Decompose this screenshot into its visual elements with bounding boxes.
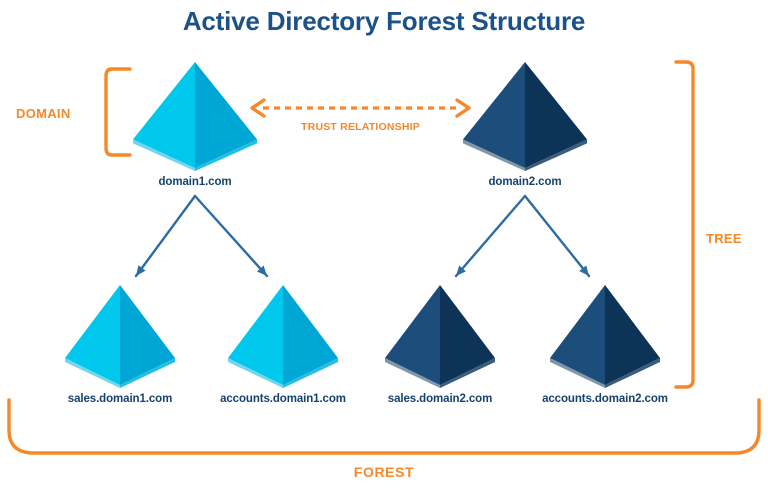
forest-group-label: FOREST [0,464,768,480]
pyramid-left-face [463,62,525,168]
pyramid-right-face [525,62,587,168]
pyramid-right-face [120,285,175,385]
pyramid-left-face [228,285,283,385]
diagram-vector-layer [0,0,768,495]
tree-group-label: TREE [706,231,742,246]
domain-group-label: DOMAIN [16,106,71,121]
connector-arrow [136,196,195,276]
arrow-head-right-icon [457,100,469,116]
pyramid-icon [228,285,338,388]
pyramid-left-face [385,285,440,385]
connector-line [195,196,267,276]
double-arrow-icon [252,100,469,116]
connector-arrow [456,196,525,276]
pyramid-right-face [283,285,338,385]
arrow-head-left-icon [252,100,264,116]
pyramid-right-face [605,285,660,385]
connector-arrow [525,196,589,276]
trust-relationship-label: TRUST RELATIONSHIP [268,121,453,133]
pyramid-label: domain2.com [415,176,635,188]
pyramid-label: accounts.domain2.com [495,393,715,405]
pyramid-icon [133,62,257,171]
pyramid-left-face [133,62,195,168]
connector-arrow [195,196,267,276]
pyramid-left-face [65,285,120,385]
pyramid-right-face [195,62,257,168]
pyramid-icon [463,62,587,171]
connector-line [136,196,195,276]
bracket-right-icon [676,62,693,387]
pyramid-left-face [550,285,605,385]
connector-line [456,196,525,276]
bracket-left-icon [106,69,130,155]
pyramid-icon [385,285,495,388]
pyramid-icon [65,285,175,388]
connector-line [525,196,589,276]
pyramid-label: domain1.com [85,176,305,188]
pyramid-right-face [440,285,495,385]
pyramid-icon [550,285,660,388]
brace-bottom-icon [9,400,759,453]
diagram-canvas: Active Directory Forest Structure DOMAIN… [0,0,768,495]
